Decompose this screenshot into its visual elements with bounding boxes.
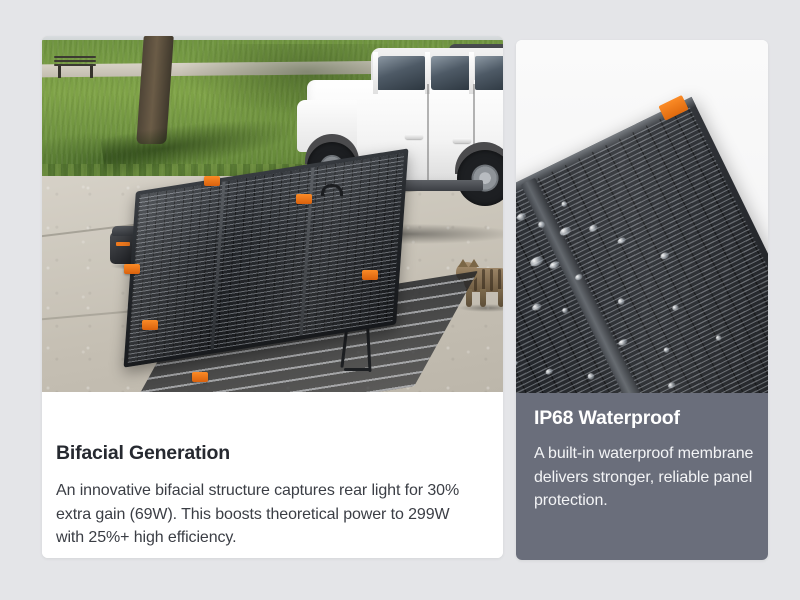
- bifacial-generation-heading: Bifacial Generation: [56, 442, 477, 465]
- ip68-waterproof-body: A built-in waterproof membrane delivers …: [534, 442, 754, 513]
- bifacial-generation-text-block: Bifacial Generation An innovative bifaci…: [42, 392, 503, 558]
- jeep-rear-window: [475, 56, 503, 90]
- ip68-waterproof-text-block: IP68 Waterproof A built-in waterproof me…: [516, 393, 768, 560]
- feature-card-bifacial-generation: Bifacial Generation An innovative bifaci…: [42, 36, 503, 558]
- panel-corner-clip-top-mid: [296, 194, 312, 204]
- ip68-waterproof-heading: IP68 Waterproof: [534, 407, 754, 430]
- solar-panel-closeup: [516, 97, 768, 393]
- park-bench-icon: [54, 56, 96, 78]
- panel-carry-handle: [321, 184, 343, 196]
- panel-kickstand-foot: [344, 368, 370, 371]
- ip68-waterproof-image: [516, 40, 768, 393]
- jeep-door-seam-front: [427, 84, 429, 184]
- bifacial-generation-body: An innovative bifacial structure capture…: [56, 479, 476, 550]
- panel-corner-clip-bottom-left: [142, 320, 158, 330]
- folding-solar-panel: [128, 172, 448, 392]
- jeep-windshield: [377, 56, 425, 90]
- jeep-rear-wheel: [457, 150, 503, 206]
- jeep-front-window: [431, 56, 471, 90]
- jeep-a-pillar: [373, 52, 378, 94]
- jeep-door-handle-rear: [453, 138, 471, 143]
- panel-corner-clip-top-left: [204, 176, 220, 186]
- panel-glare: [516, 97, 768, 393]
- panel-corner-clip-top-right: [362, 270, 378, 280]
- panel-corner-clip-left: [124, 264, 140, 274]
- bifacial-generation-image: [42, 36, 503, 392]
- jeep-door-handle-front: [405, 134, 423, 139]
- panel-corner-clip-bottom: [192, 372, 208, 382]
- feature-card-ip68-waterproof: IP68 Waterproof A built-in waterproof me…: [516, 40, 768, 560]
